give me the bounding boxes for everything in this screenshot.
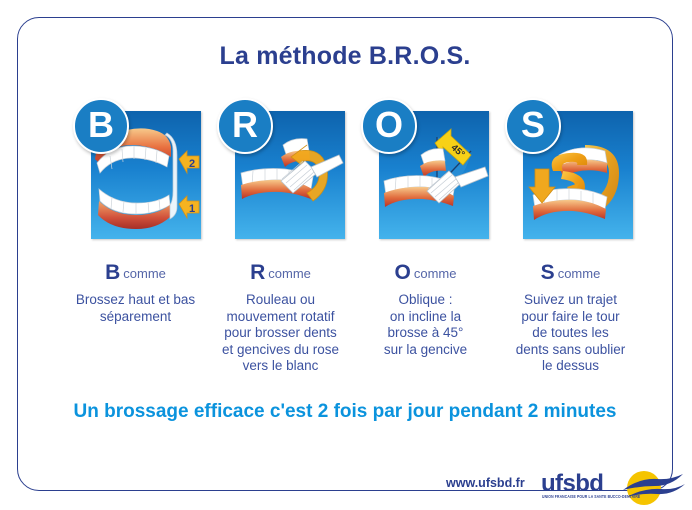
panel-badge-s: S — [505, 98, 561, 154]
ufsbd-logo[interactable]: ufsbd UNION FRANCAISE POUR LA SANTE BUCC… — [541, 468, 686, 508]
caption-b-letter: B — [105, 261, 120, 284]
captions-row: Bcomme Brossez haut et bas séparement Rc… — [63, 261, 643, 375]
caption-s: Scomme Suivez un trajet pour faire le to… — [498, 261, 643, 375]
caption-b-head: Bcomme — [63, 261, 208, 285]
panel-badge-b: B — [73, 98, 129, 154]
svg-text:1: 1 — [189, 203, 195, 215]
caption-o-comme: comme — [414, 266, 457, 281]
website-url[interactable]: www.ufsbd.fr — [446, 476, 525, 490]
caption-r-comme: comme — [268, 266, 311, 281]
caption-b-text: Brossez haut et bas séparement — [63, 292, 208, 325]
panel-s[interactable]: S — [505, 98, 633, 250]
caption-r: Rcomme Rouleau ou mouvement rotatif pour… — [208, 261, 353, 375]
caption-o: Ocomme Oblique : on incline la brosse à … — [353, 261, 498, 375]
poster-card: La méthode B.R.O.S. — [17, 17, 673, 491]
caption-b: Bcomme Brossez haut et bas séparement — [63, 261, 208, 375]
panel-r[interactable]: R — [217, 98, 345, 250]
svg-text:2: 2 — [189, 158, 195, 170]
caption-o-letter: O — [395, 261, 411, 284]
caption-s-comme: comme — [558, 266, 601, 281]
caption-o-text: Oblique : on incline la brosse à 45° sur… — [353, 292, 498, 358]
logo-tagline: UNION FRANCAISE POUR LA SANTE BUCCO-DENT… — [542, 494, 640, 499]
page-title: La méthode B.R.O.S. — [18, 42, 672, 71]
arrow-1-icon: 1 — [179, 196, 199, 218]
panel-badge-r: R — [217, 98, 273, 154]
panel-badge-o: O — [361, 98, 417, 154]
tagline: Un brossage efficace c'est 2 fois par jo… — [18, 401, 672, 423]
caption-b-comme: comme — [123, 266, 166, 281]
caption-r-head: Rcomme — [208, 261, 353, 285]
caption-o-head: Ocomme — [353, 261, 498, 285]
arrow-2-icon: 2 — [179, 151, 199, 173]
caption-s-head: Scomme — [498, 261, 643, 285]
caption-s-text: Suivez un trajet pour faire le tour de t… — [498, 292, 643, 375]
panel-b[interactable]: 2 1 B — [73, 98, 201, 250]
panel-o[interactable]: 45° — [361, 98, 489, 250]
footer: www.ufsbd.fr ufsbd UNION FRANCAISE POUR … — [438, 468, 688, 510]
caption-r-text: Rouleau ou mouvement rotatif pour brosse… — [208, 292, 353, 375]
caption-s-letter: S — [541, 261, 555, 284]
panels-row: 2 1 B — [73, 98, 633, 253]
caption-r-letter: R — [250, 261, 265, 284]
